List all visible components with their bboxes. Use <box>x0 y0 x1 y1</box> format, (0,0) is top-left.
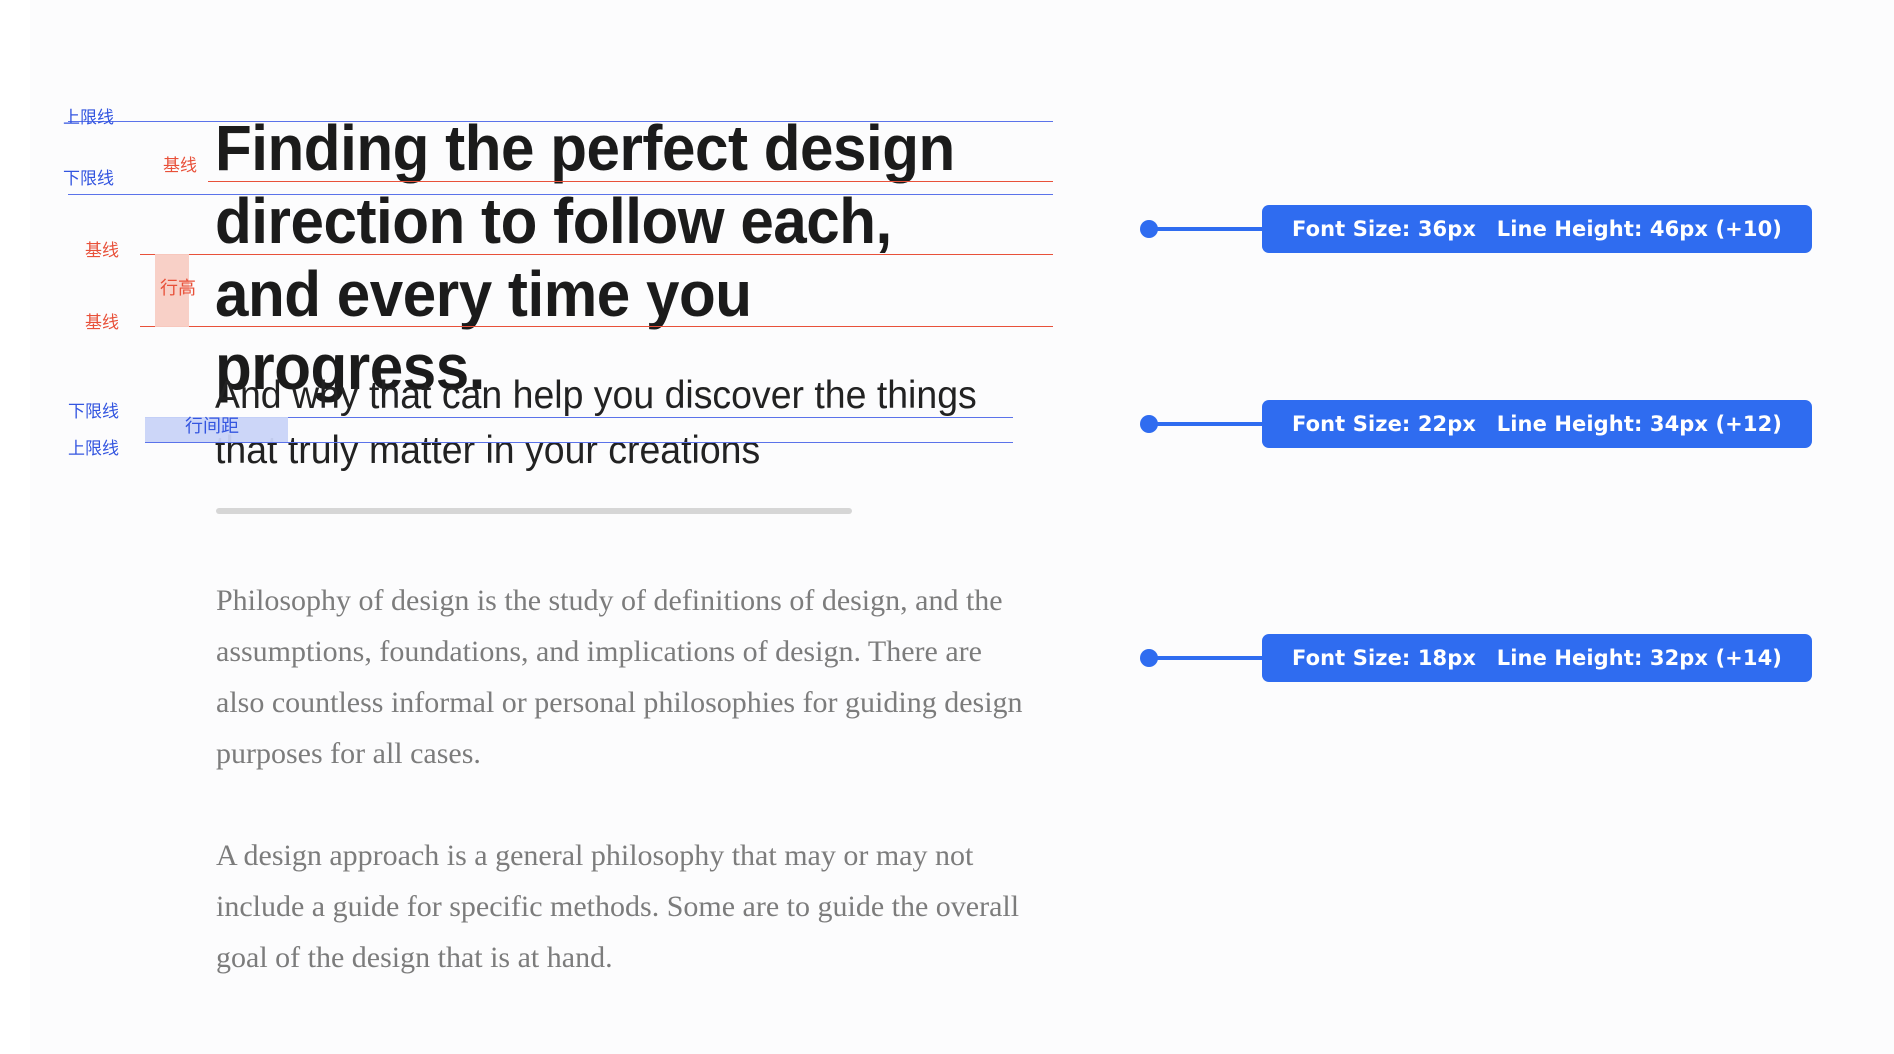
headline-guide-line-1 <box>208 181 1053 182</box>
subhead-guide-label-0: 下限线 <box>68 404 119 421</box>
headline-guide-label-1: 基线 <box>163 158 197 175</box>
headline-spec[interactable]: Font Size: 36pxLine Height: 46px (+10) <box>1140 205 1812 253</box>
headline-guide-line-2 <box>68 194 1053 195</box>
body-spec[interactable]: Font Size: 18pxLine Height: 32px (+14) <box>1140 634 1812 682</box>
headline-guide-line-3 <box>140 254 1053 255</box>
font-size-value: Font Size: 18px <box>1292 646 1476 670</box>
font-size-value: Font Size: 36px <box>1292 217 1476 241</box>
body-paragraph-1: Philosophy of design is the study of def… <box>216 575 1036 779</box>
font-size-value: Font Size: 22px <box>1292 412 1476 436</box>
headline-guide-label-3: 基线 <box>85 243 119 260</box>
callout-dot-icon <box>1140 649 1158 667</box>
callout-connector-line <box>1157 656 1264 660</box>
line-height-value: Line Height: 32px (+14) <box>1497 646 1782 670</box>
page-canvas: Finding the perfect design direction to … <box>0 0 1894 1054</box>
headline-guide-label-2: 下限线 <box>63 171 114 188</box>
callout-connector-line <box>1157 422 1264 426</box>
headline-guide-label-4: 基线 <box>85 315 119 332</box>
headline-guide-label-0: 上限线 <box>63 110 114 127</box>
headline-text: Finding the perfect design direction to … <box>215 112 995 404</box>
subhead-guide-line-1 <box>145 442 1013 443</box>
subhead-spec-badge[interactable]: Font Size: 22pxLine Height: 34px (+12) <box>1262 400 1812 448</box>
body-spec-badge[interactable]: Font Size: 18pxLine Height: 32px (+14) <box>1262 634 1812 682</box>
callout-dot-icon <box>1140 415 1158 433</box>
line-height-value: Line Height: 46px (+10) <box>1497 217 1782 241</box>
line-height-value: Line Height: 34px (+12) <box>1497 412 1782 436</box>
line-spacing-band-label: 行间距 <box>185 418 239 436</box>
callout-dot-icon <box>1140 220 1158 238</box>
subhead-text: And why that can help you discover the t… <box>215 368 1012 478</box>
line-height-band-label: 行高 <box>160 280 196 298</box>
body-paragraph-2: A design approach is a general philosoph… <box>216 830 1036 983</box>
headline-spec-badge[interactable]: Font Size: 36pxLine Height: 46px (+10) <box>1262 205 1812 253</box>
headline-guide-line-0 <box>68 121 1053 122</box>
headline-guide-line-4 <box>140 326 1053 327</box>
type-specimen: Finding the perfect design direction to … <box>0 0 1100 1054</box>
callout-connector-line <box>1157 227 1264 231</box>
section-divider <box>216 508 852 514</box>
subhead-spec[interactable]: Font Size: 22pxLine Height: 34px (+12) <box>1140 400 1812 448</box>
subhead-guide-label-1: 上限线 <box>68 441 119 458</box>
